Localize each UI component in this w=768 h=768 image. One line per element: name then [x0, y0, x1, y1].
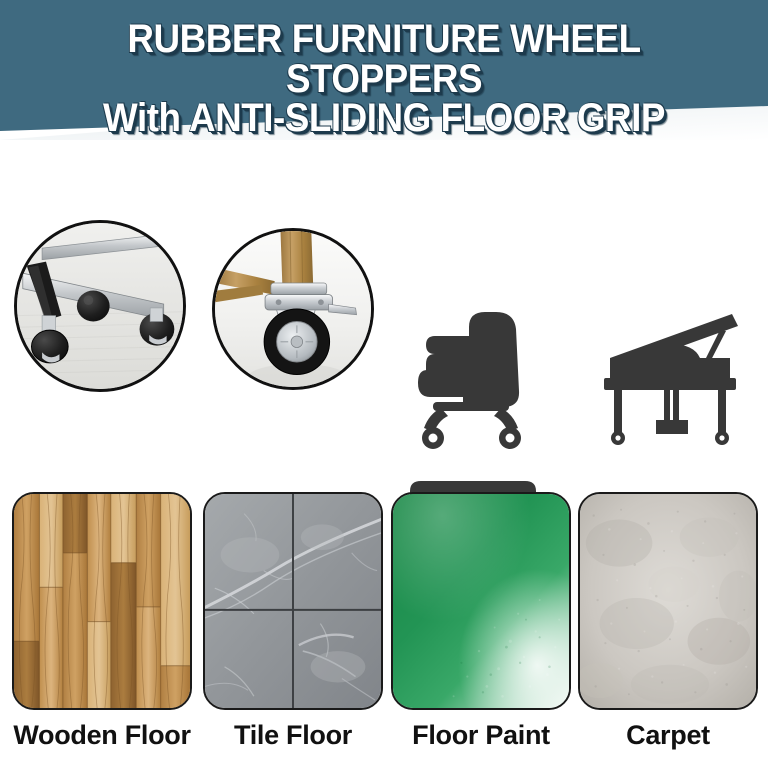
wooden-leg-caster-illustration — [215, 231, 371, 387]
tile-texture — [205, 494, 381, 708]
floor-sample-label: Floor Paint — [391, 720, 571, 751]
tile-floor-swatch — [203, 492, 383, 710]
wooden-floor-swatch — [12, 492, 192, 710]
floor-paint-swatch — [391, 492, 571, 710]
banner-headline: RUBBER FURNITURE WHEEL STOPPERS With ANT… — [0, 0, 768, 140]
floor-sample-floor-paint: Floor Paint — [391, 492, 571, 710]
floor-sample-label: Carpet — [578, 720, 758, 751]
grand-piano-icon — [592, 312, 750, 447]
office-chair-icon — [413, 308, 553, 453]
header-banner: RUBBER FURNITURE WHEEL STOPPERS With ANT… — [0, 0, 768, 140]
icon-office-chair — [413, 308, 553, 453]
banner-headline-line-1: RUBBER FURNITURE WHEEL STOPPERS — [31, 20, 738, 99]
floor-sample-label: Wooden Floor — [12, 720, 192, 751]
banner-headline-line-2: With ANTI-SLIDING FLOOR GRIP PROTECT — [31, 99, 738, 140]
carpet-texture — [580, 494, 756, 708]
floor-sample-label: Tile Floor — [203, 720, 383, 751]
photo-metal-frame-casters — [14, 220, 186, 392]
icon-grand-piano — [592, 312, 750, 447]
metal-frame-casters-illustration — [17, 223, 183, 389]
floor-sample-carpet: Carpet — [578, 492, 758, 710]
carpet-swatch — [578, 492, 758, 710]
floor-sample-tile-floor: Tile Floor — [203, 492, 383, 710]
floor-sample-wooden-floor: Wooden Floor — [12, 492, 192, 710]
floor-type-samples: Wooden Floor — [0, 470, 768, 768]
photo-wooden-leg-swivel-caster — [212, 228, 374, 390]
product-application-section — [0, 140, 768, 470]
paint-texture — [393, 494, 569, 708]
wood-texture — [14, 494, 190, 708]
